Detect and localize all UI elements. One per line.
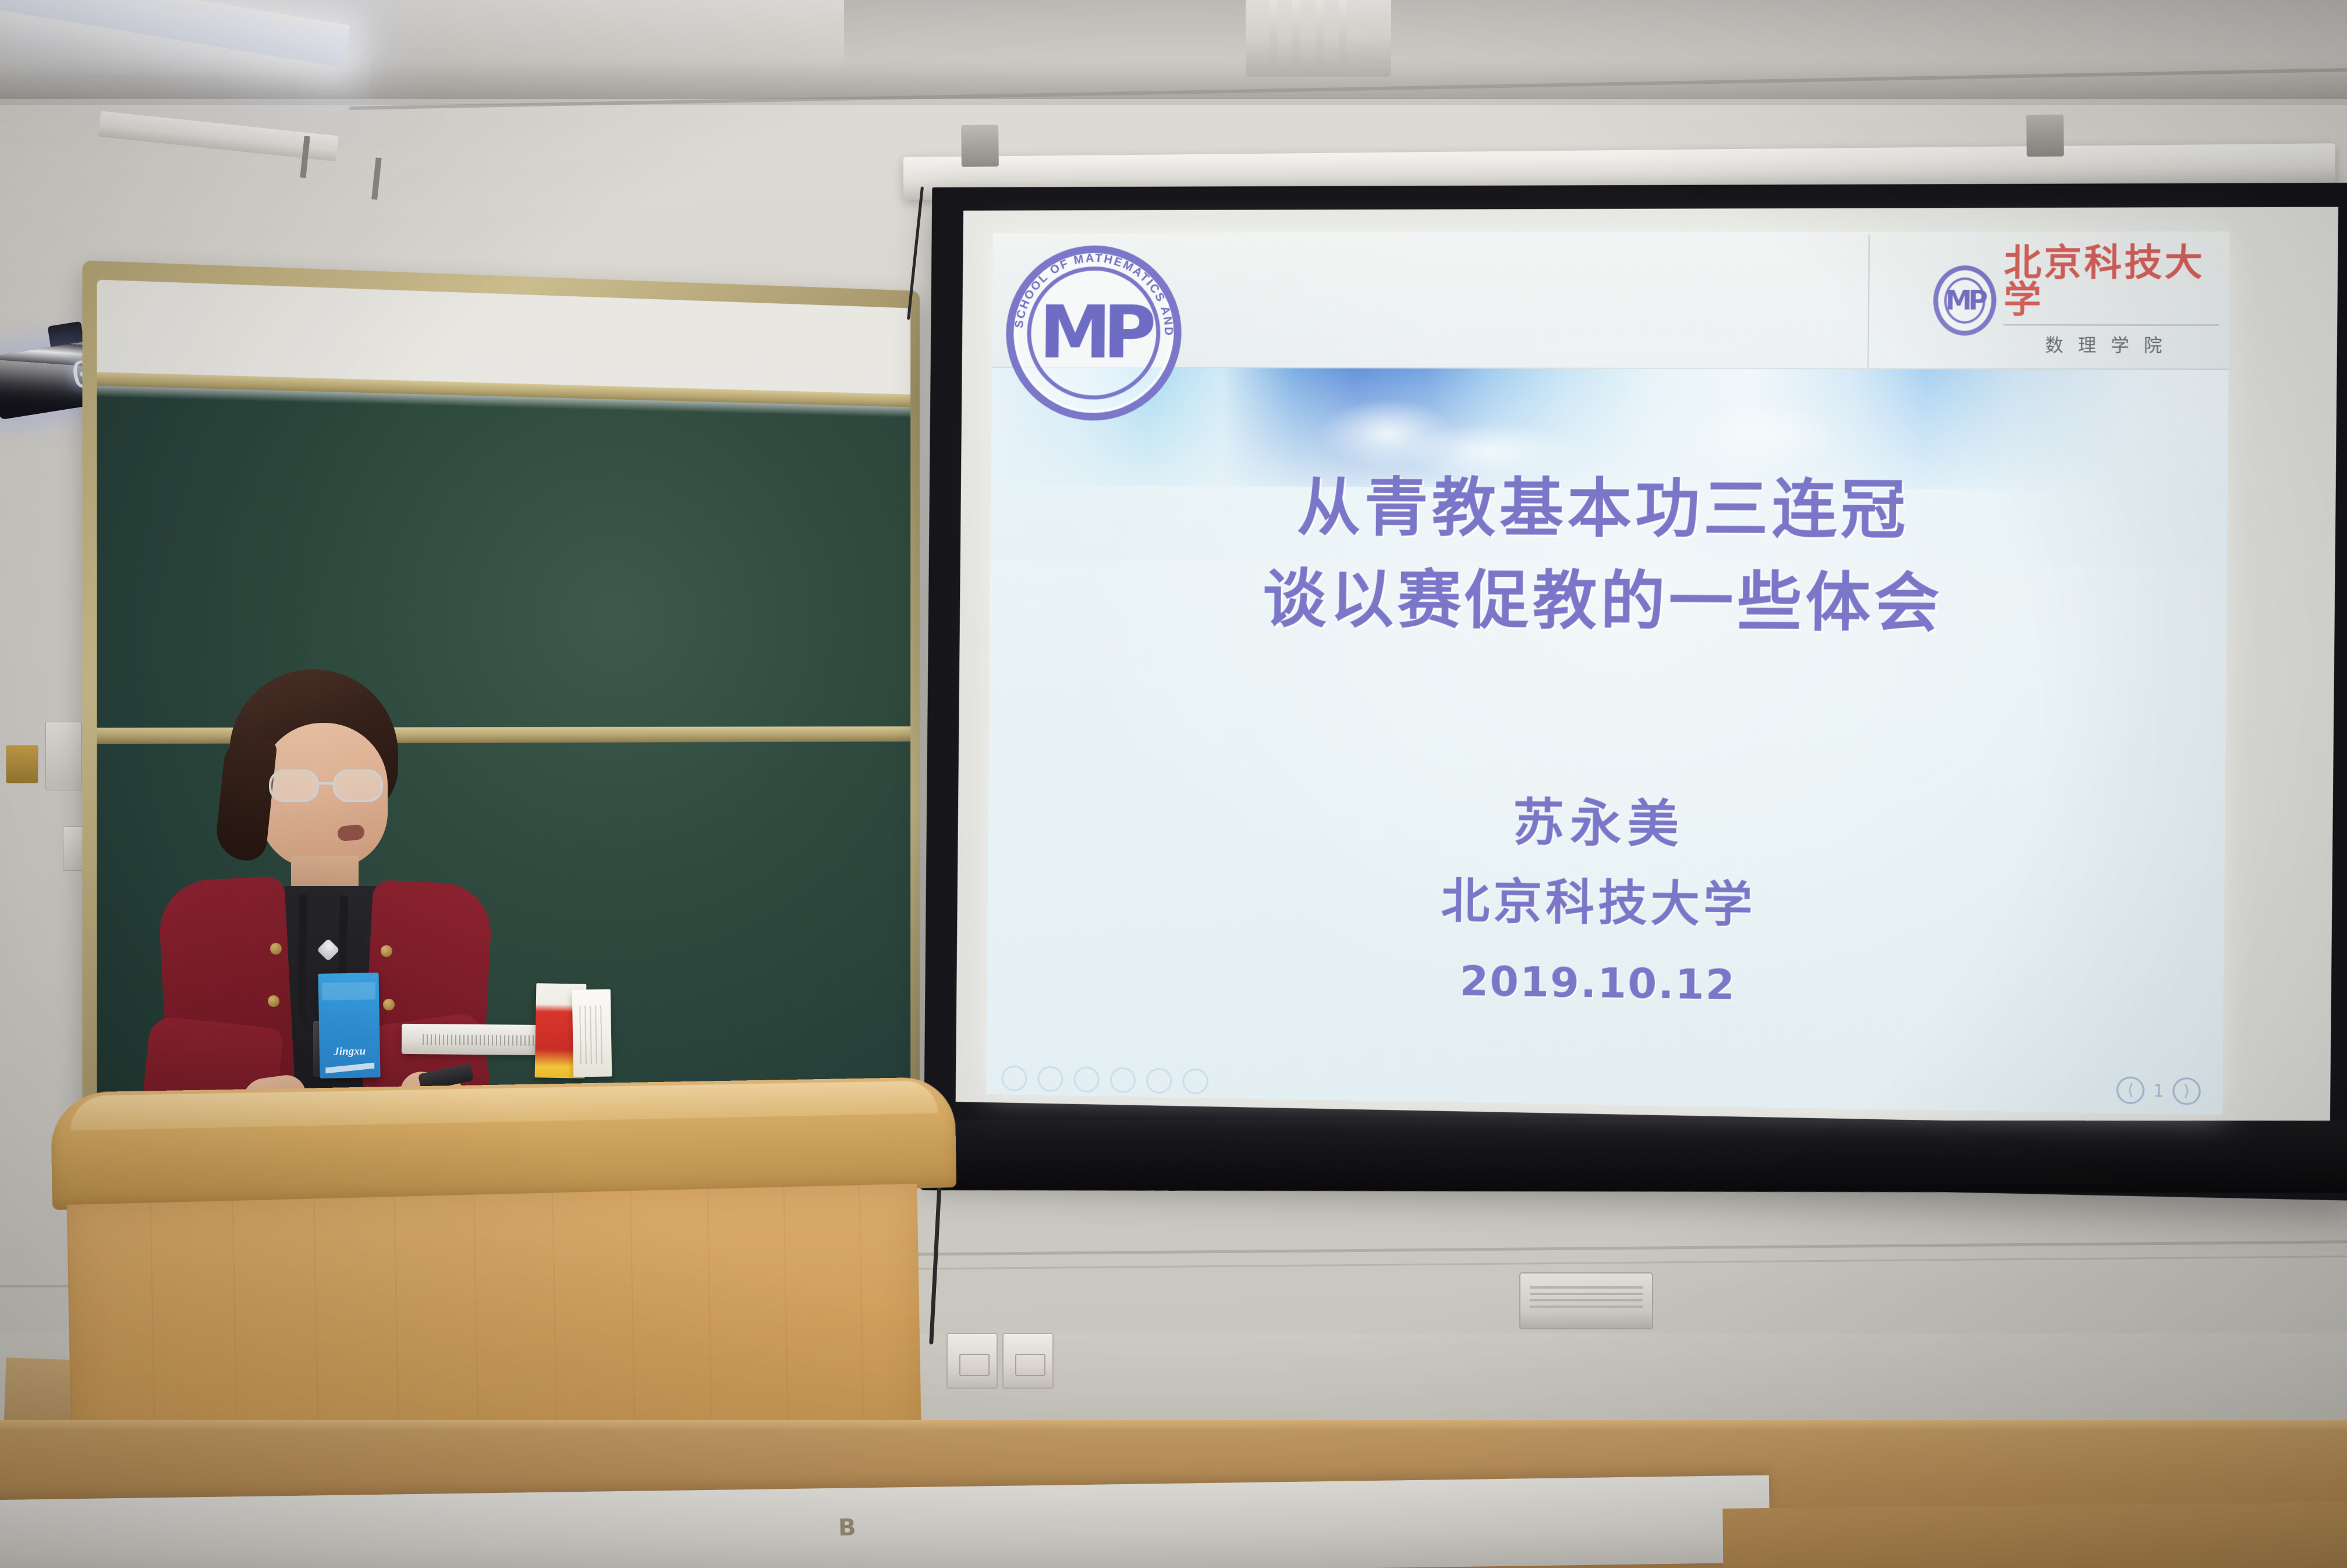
housing-fin (1339, 0, 1347, 70)
slide-author-block: 苏永美 北京科技大学 2019.10.12 (987, 780, 2225, 1033)
circle-icon-3[interactable] (1073, 1066, 1099, 1092)
slide-page-number: 1 (2153, 1081, 2164, 1101)
chalk-box-stripe (325, 1063, 374, 1074)
ceiling-projector-mount (1246, 0, 1391, 77)
circle-icon-5[interactable] (1146, 1067, 1172, 1094)
presenter-hair-side (214, 736, 277, 863)
university-text: 北京科技大学 数理学院 (2003, 244, 2220, 357)
desk-marking: B (838, 1514, 856, 1542)
wall-fixture (45, 722, 81, 790)
mp-seal-icon: MP (1933, 265, 1997, 335)
classroom-scene: 05 (0, 0, 2347, 1568)
housing-fin (1316, 0, 1324, 70)
wall-vent-unit (1519, 1272, 1653, 1329)
screen-bracket (2026, 115, 2064, 157)
screen-weight-bar (919, 1120, 2347, 1193)
title-line-2: 谈以赛促教的一些体会 (990, 552, 2227, 652)
cardigan-button (381, 945, 392, 957)
university-rule (2004, 324, 2220, 325)
housing-fin (1269, 0, 1277, 70)
slide-title: 从青教基本功三连冠 谈以赛促教的一些体会 (990, 461, 2228, 652)
housing-fin (1292, 0, 1300, 70)
chevron-right-icon[interactable]: ⟩ (2172, 1077, 2201, 1105)
author-name: 苏永美 (988, 780, 2225, 870)
header-divider (1867, 235, 1870, 368)
chalk-box-blue: Jingxu (318, 973, 380, 1079)
eyeglasses-icon (269, 769, 395, 802)
ceiling-shadow (844, 0, 2347, 70)
university-branding: MP 北京科技大学 数理学院 (1933, 242, 2220, 359)
wall-outlet[interactable] (1002, 1333, 1054, 1389)
cardigan-button (383, 999, 395, 1010)
screen-bracket (961, 125, 999, 167)
lens-right (333, 769, 383, 802)
school-of-mathematics-and-physics-logo-icon: SCHOOL OF MATHEMATICS AND PHYSICS MP (1005, 246, 1182, 421)
circle-icon-1[interactable] (1001, 1065, 1027, 1091)
chalk-box-top-panel (322, 982, 376, 1001)
lens-left (269, 769, 319, 802)
cardigan-button (268, 995, 279, 1007)
university-name-cn: 北京科技大学 (2004, 244, 2220, 318)
circle-icon-2[interactable] (1037, 1066, 1063, 1092)
chalk-box-white (572, 989, 612, 1077)
presentation-slide[interactable]: MP 北京科技大学 数理学院 (986, 231, 2229, 1115)
logo-monogram: MP (1039, 291, 1148, 375)
presentation-date: 2019.10.12 (987, 936, 2224, 1032)
slide-navigation[interactable]: ⟨ 1 ⟩ (2116, 1076, 2201, 1105)
seal-monogram: MP (1945, 285, 1984, 315)
circle-icon-4[interactable] (1110, 1067, 1136, 1093)
blackboard-eraser (402, 1024, 553, 1055)
slide-viewer-toolbar[interactable] (1001, 1065, 1208, 1094)
chalk-box-brand: Jingxu (320, 1045, 380, 1059)
front-row-table-right (1722, 1502, 2347, 1568)
cardigan-button (270, 943, 282, 955)
university-school-cn: 数理学院 (2003, 330, 2219, 356)
wall-hook (6, 745, 38, 783)
chevron-left-icon[interactable]: ⟨ (2116, 1076, 2145, 1104)
circle-icon-6[interactable] (1182, 1068, 1208, 1094)
title-line-1: 从青教基本功三连冠 (991, 461, 2228, 559)
